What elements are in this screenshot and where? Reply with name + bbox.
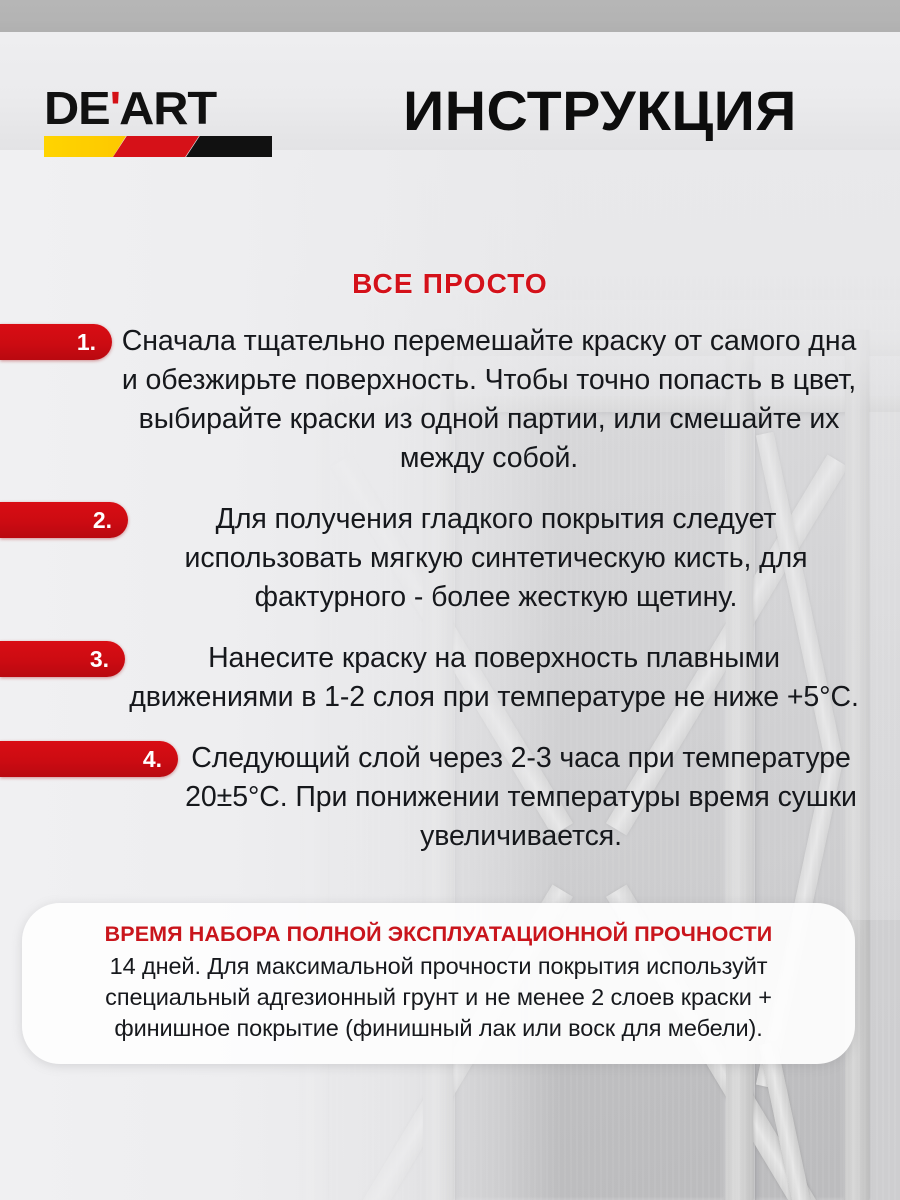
step-number-badge: 1. xyxy=(0,324,112,360)
note-title: ВРЕМЯ НАБОРА ПОЛНОЙ ЭКСПЛУАТАЦИОННОЙ ПРО… xyxy=(48,921,829,947)
instruction-page: DE'ART ИНСТРУКЦИЯ ВСЕ ПРОСТО 1. Сначала … xyxy=(0,0,900,1200)
brand-logo-text-after: ART xyxy=(119,86,216,130)
flag-stripe-red xyxy=(113,136,199,157)
section-title: ВСЕ ПРОСТО xyxy=(0,268,900,300)
note-card: ВРЕМЯ НАБОРА ПОЛНОЙ ЭКСПЛУАТАЦИОННОЙ ПРО… xyxy=(22,903,855,1064)
step-text: Сначала тщательно перемешайте краску от … xyxy=(0,322,900,478)
flag-stripe-black xyxy=(186,136,272,157)
top-grey-strip xyxy=(0,0,900,32)
step-text: Нанесите краску на поверхность плавными … xyxy=(0,639,900,717)
brand-logo-wordmark: DE'ART xyxy=(44,86,286,130)
brand-logo-apostrophe: ' xyxy=(110,86,119,130)
brand-logo: DE'ART xyxy=(44,86,272,157)
brand-logo-text-before: DE xyxy=(44,86,110,130)
step-text: Для получения гладкого покрытия следует … xyxy=(0,500,900,617)
note-body: 14 дней. Для максимальной прочности покр… xyxy=(48,951,829,1044)
brand-logo-flag-bar xyxy=(44,136,272,157)
list-item: 2. Для получения гладкого покрытия следу… xyxy=(0,500,900,617)
list-item: 3. Нанесите краску на поверхность плавны… xyxy=(0,639,900,717)
flag-stripe-yellow xyxy=(44,136,126,157)
list-item: 1. Сначала тщательно перемешайте краску … xyxy=(0,322,900,478)
step-number-badge: 3. xyxy=(0,641,125,677)
header-bar: DE'ART ИНСТРУКЦИЯ xyxy=(0,32,900,150)
list-item: 4. Следующий слой через 2-3 часа при тем… xyxy=(0,739,900,856)
steps-list: 1. Сначала тщательно перемешайте краску … xyxy=(0,322,900,878)
page-title: ИНСТРУКЦИЯ xyxy=(325,80,876,142)
step-number-badge: 4. xyxy=(0,741,178,777)
step-number-badge: 2. xyxy=(0,502,128,538)
